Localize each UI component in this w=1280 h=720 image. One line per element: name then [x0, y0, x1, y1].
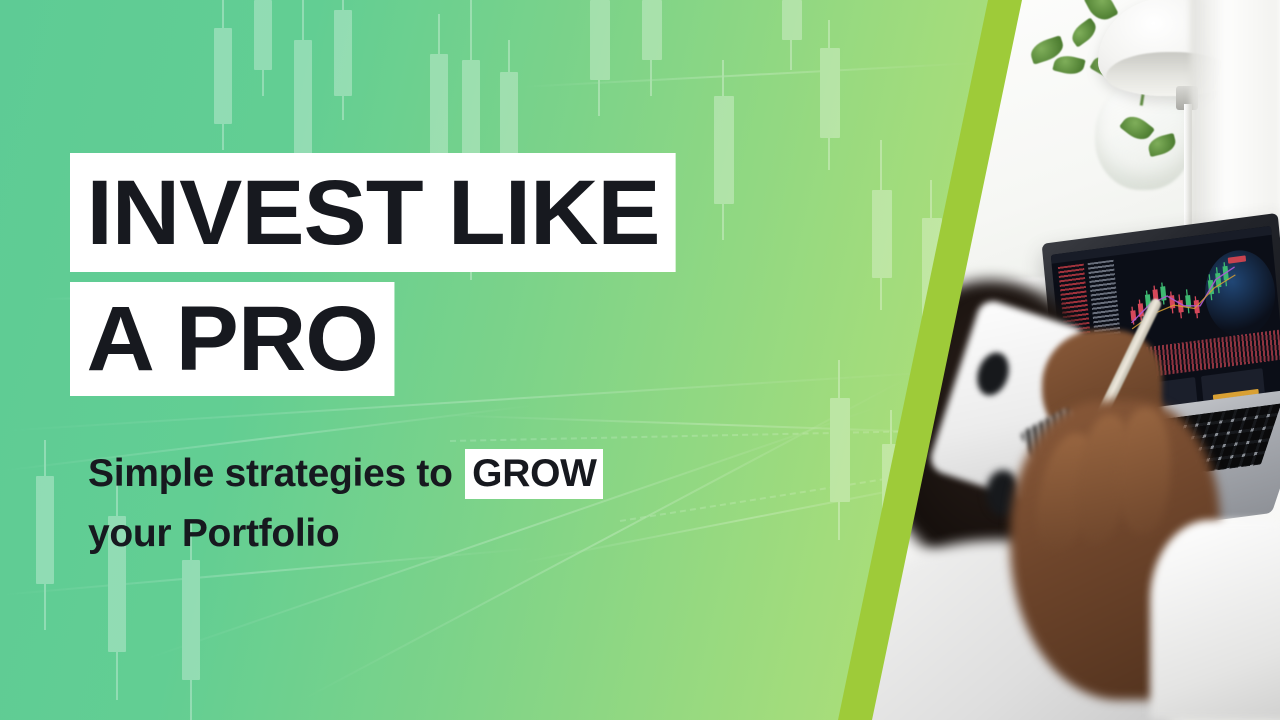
subheadline-highlight: GROW	[465, 449, 602, 499]
shirt-cuff	[1150, 520, 1280, 720]
subheadline-prefix: Simple strategies to	[88, 452, 453, 495]
headline-line-2: A PRO	[70, 282, 394, 396]
subheadline: Simple strategies to GROW your Portfolio	[88, 444, 788, 564]
subheadline-suffix: your Portfolio	[88, 512, 339, 555]
promo-banner: INVEST LIKE A PRO Simple strategies to G…	[0, 0, 1280, 720]
headline-block: INVEST LIKE A PRO Simple strategies to G…	[0, 0, 900, 720]
headline-line-1: INVEST LIKE	[70, 153, 676, 272]
